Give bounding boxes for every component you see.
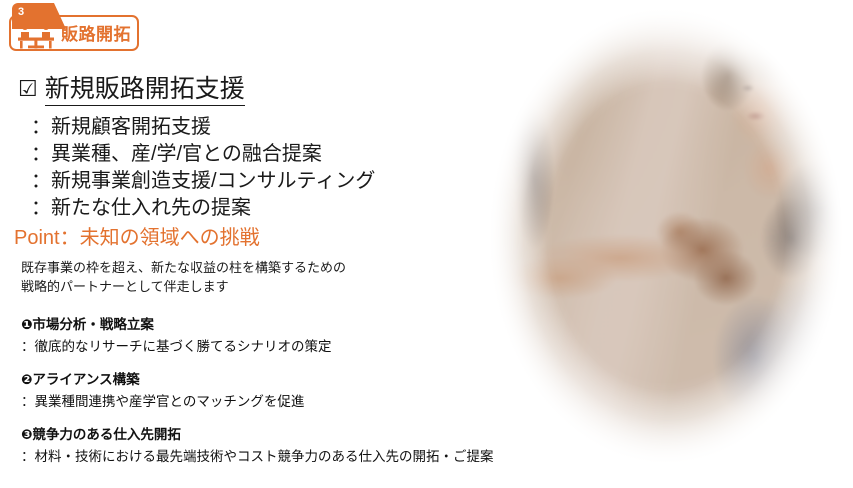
- description-line: 戦略的パートナーとして伴走します: [21, 277, 346, 296]
- handshake-photo-image: [470, 0, 853, 488]
- numbered-item-title: ❶市場分析・戦略立案: [21, 315, 332, 335]
- meeting-table-people-icon: [18, 23, 54, 49]
- photo-vignette-overlay: [470, 0, 853, 488]
- description-paragraph: 既存事業の枠を超え、新たな収益の柱を構築するための 戦略的パートナーとして伴走し…: [21, 258, 346, 296]
- service-list: ：新規顧客開拓支援 ：異業種、産/学/官との融合提案 ：新規事業創造支援/コンサ…: [31, 114, 375, 222]
- page-title: ☑新規販路開拓支援: [18, 72, 245, 106]
- list-item: ：新規事業創造支援/コンサルティング: [31, 168, 375, 195]
- numbered-item-body: ：材料・技術における最先端技術やコスト競争力のある仕入先の開拓・ご提案: [21, 447, 494, 467]
- numbered-item: ❷アライアンス構築 ：異業種間連携や産学官とのマッチングを促進: [21, 370, 304, 412]
- section-badge: 3 販路開拓: [9, 3, 143, 53]
- numbered-item-title: ❷アライアンス構築: [21, 370, 304, 390]
- numbered-item-title: ❸競争力のある仕入先開拓: [21, 425, 494, 445]
- numbered-item: ❸競争力のある仕入先開拓 ：材料・技術における最先端技術やコスト競争力のある仕入…: [21, 425, 494, 467]
- checkbox-icon: ☑: [18, 76, 38, 101]
- list-item: ：新たな仕入れ先の提案: [31, 195, 375, 222]
- page-title-text: 新規販路開拓支援: [45, 75, 245, 106]
- description-line: 既存事業の枠を超え、新たな収益の柱を構築するための: [21, 258, 346, 277]
- section-badge-title: 販路開拓: [61, 23, 131, 47]
- section-number: 3: [18, 5, 24, 19]
- list-item: ：異業種、産/学/官との融合提案: [31, 141, 375, 168]
- numbered-item-body: ：徹底的なリサーチに基づく勝てるシナリオの策定: [21, 337, 332, 357]
- handshake-photo: [470, 0, 853, 488]
- numbered-item-body: ：異業種間連携や産学官とのマッチングを促進: [21, 392, 304, 412]
- slide-canvas: 3 販路開拓 ☑新規販路開拓支援 ：新規顧客開拓支援: [0, 0, 853, 480]
- point-headline: Point：未知の領域への挑戦: [14, 224, 260, 252]
- numbered-item: ❶市場分析・戦略立案 ：徹底的なリサーチに基づく勝てるシナリオの策定: [21, 315, 332, 357]
- list-item: ：新規顧客開拓支援: [31, 114, 375, 141]
